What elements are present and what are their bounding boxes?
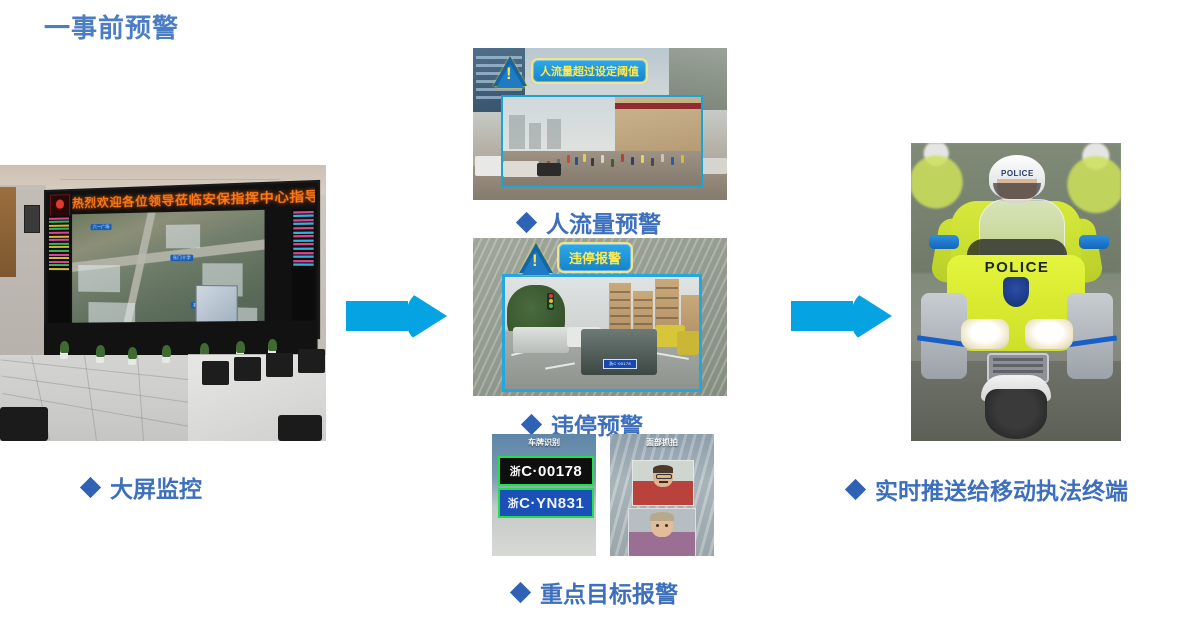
monitor	[298, 349, 325, 373]
warning-triangle-icon	[519, 243, 553, 273]
arrow-2	[791, 290, 891, 342]
pedestrian	[611, 159, 614, 167]
helmet-text: POLICE	[1001, 169, 1034, 178]
vehicle	[537, 163, 561, 176]
pedestrian	[661, 154, 664, 162]
police-crest-icon	[1003, 277, 1029, 307]
front-wheel	[985, 389, 1047, 439]
diamond-bullet-icon	[80, 476, 101, 497]
diamond-bullet-icon	[510, 581, 531, 602]
pedestrian	[681, 155, 684, 163]
arrow-head-icon	[851, 290, 892, 342]
pedestrian	[671, 157, 674, 165]
blue-light-left	[929, 235, 959, 249]
ceiling-line	[60, 179, 280, 180]
monitor	[266, 353, 293, 377]
face-panel-title: 面部抓拍	[610, 437, 714, 448]
caption-text: 实时推送给移动执法终端	[875, 472, 1128, 506]
pedestrian	[651, 158, 654, 166]
vehicle	[677, 331, 699, 355]
pedestrian	[591, 158, 594, 166]
plate-panel-title: 车牌识别	[492, 437, 596, 448]
arrow-1	[346, 290, 446, 342]
pedestrian	[583, 154, 586, 162]
crowd-alert-photo: 人流量超过设定阈值	[473, 48, 727, 200]
face-thumbnail	[632, 460, 694, 506]
caption-mobile-terminal: 实时推送给移动执法终端	[848, 472, 1128, 506]
headlight-right	[1025, 319, 1073, 349]
monitor	[202, 361, 229, 385]
alert-text: 人流量超过设定阈值	[531, 58, 648, 84]
caption-crowd-alert: 人流量预警	[519, 205, 661, 239]
parking-alert-photo: 浙C·00178 违停报警	[473, 238, 727, 396]
target-vehicle: 浙C·00178	[581, 329, 657, 375]
detection-box: 浙C·00178	[502, 274, 702, 392]
target-alert-photo: 车牌识别 浙 C·00178 浙 C·YN831 面部抓拍	[492, 434, 714, 556]
wood-trim	[0, 187, 16, 277]
diamond-bullet-icon	[516, 211, 537, 232]
headlight-left	[961, 319, 1009, 349]
plate-number: C·YN831	[519, 495, 584, 512]
caption-text: 大屏监控	[110, 470, 202, 504]
pedestrian	[621, 154, 624, 162]
face-capture-panel: 面部抓拍	[610, 434, 714, 556]
blue-light-right	[1079, 235, 1109, 249]
wall-logo	[50, 194, 70, 217]
diamond-bullet-icon	[845, 478, 866, 499]
arrow-head-icon	[406, 290, 447, 342]
vehicle	[701, 158, 727, 174]
control-room-photo: 热烈欢迎各位领导莅临安保指挥中心指导工作 六一广场 东门十字 商业中心	[0, 165, 326, 441]
diamond-bullet-icon	[521, 413, 542, 434]
caption-target-alert: 重点目标报警	[513, 575, 678, 609]
wall-left-data-column	[48, 215, 70, 323]
plate-number: C·00178	[521, 463, 582, 480]
pedestrian	[575, 157, 578, 165]
plate-prefix: 浙	[510, 463, 522, 479]
traffic-light	[547, 293, 554, 310]
vehicle	[513, 327, 569, 353]
caption-text: 人流量预警	[546, 205, 661, 239]
video-wall: 热烈欢迎各位领导莅临安保指挥中心指导工作 六一广场 东门十字 商业中心	[44, 180, 320, 339]
alert-text: 违停报警	[557, 242, 633, 273]
crowd-alert-banner: 人流量超过设定阈值	[493, 56, 648, 86]
pedestrian	[601, 155, 604, 163]
monitor	[234, 357, 261, 381]
license-plate: 浙 C·YN831	[498, 488, 594, 518]
wall-right-data-column	[292, 209, 315, 332]
caption-control-room: 大屏监控	[83, 470, 202, 504]
pedestrian	[641, 155, 644, 163]
chair	[0, 407, 48, 441]
plate-recognition-panel: 车牌识别 浙 C·00178 浙 C·YN831	[492, 434, 596, 556]
page-title: 一事前预警	[44, 8, 179, 45]
arrow-shaft	[346, 301, 408, 331]
license-plate: 浙 C·00178	[498, 456, 594, 486]
wall-map-pane: 六一广场 东门十字 商业中心	[72, 210, 264, 333]
pedestrian	[631, 157, 634, 165]
caption-text: 重点目标报警	[540, 575, 678, 609]
police-motorcycle-photo: POLICE POLICE	[911, 143, 1121, 441]
vehicle	[503, 161, 539, 177]
arrow-shaft	[791, 301, 853, 331]
video-wall-banner: 热烈欢迎各位领导莅临安保指挥中心指导工作	[72, 187, 315, 213]
pedestrian	[567, 155, 570, 163]
warning-triangle-icon	[493, 56, 527, 86]
parking-alert-banner: 违停报警	[519, 242, 633, 273]
plate-prefix: 浙	[508, 495, 520, 511]
speaker	[24, 205, 40, 233]
detection-box	[501, 95, 703, 187]
chair	[278, 415, 322, 441]
face-thumbnail	[628, 508, 696, 556]
bike-police-text: POLICE	[969, 259, 1065, 276]
